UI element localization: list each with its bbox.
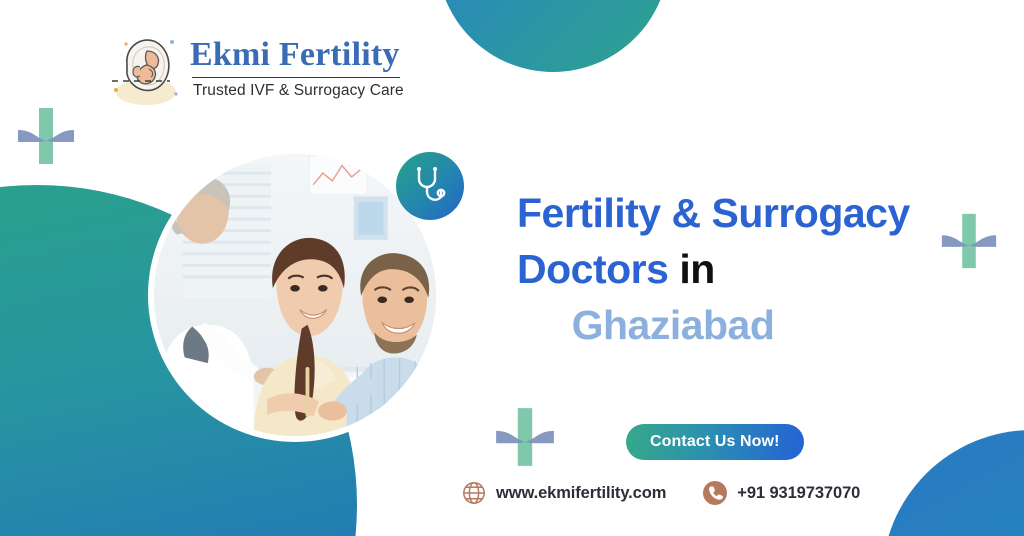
page-title: Fertility & Surrogacy Doctors in Ghaziab… [517, 185, 1009, 353]
headline-line-1: Fertility & Surrogacy [517, 185, 1009, 241]
globe-icon [461, 480, 487, 506]
headline-dark: in [679, 246, 714, 292]
headline-line-3: Ghaziabad [517, 297, 1009, 353]
fertility-clinic-banner: Ekmi Fertility Trusted IVF & Surrogacy C… [0, 0, 1024, 536]
headline-primary-2: Doctors [517, 246, 668, 292]
decorative-blob-top [437, 0, 669, 72]
brand-divider [192, 77, 400, 78]
brand-logo[interactable]: Ekmi Fertility Trusted IVF & Surrogacy C… [100, 24, 404, 110]
contact-row: www.ekmifertility.com +91 9319737070 [461, 480, 860, 506]
stethoscope-badge [396, 152, 464, 220]
headline-primary-1: Fertility & Surrogacy [517, 190, 910, 236]
contact-us-button[interactable]: Contact Us Now! [626, 424, 804, 460]
brand-tagline: Trusted IVF & Surrogacy Care [190, 81, 404, 100]
medical-cross-icon [14, 104, 78, 168]
phone-icon [702, 480, 728, 506]
website-contact-item[interactable]: www.ekmifertility.com [461, 480, 666, 506]
brand-text: Ekmi Fertility Trusted IVF & Surrogacy C… [190, 34, 404, 100]
decorative-blob-bottom-right [882, 430, 1024, 536]
website-text: www.ekmifertility.com [496, 484, 666, 503]
medical-cross-icon [492, 404, 558, 470]
brand-name: Ekmi Fertility [190, 36, 404, 74]
fetus-in-womb-icon [100, 24, 186, 110]
headline-line-2: Doctors in [517, 241, 1009, 297]
stethoscope-icon [409, 165, 451, 207]
phone-text: +91 9319737070 [737, 484, 860, 503]
doctor-consulting-couple-photo [154, 154, 436, 436]
phone-contact-item[interactable]: +91 9319737070 [702, 480, 860, 506]
headline-city: Ghaziabad [572, 302, 775, 348]
